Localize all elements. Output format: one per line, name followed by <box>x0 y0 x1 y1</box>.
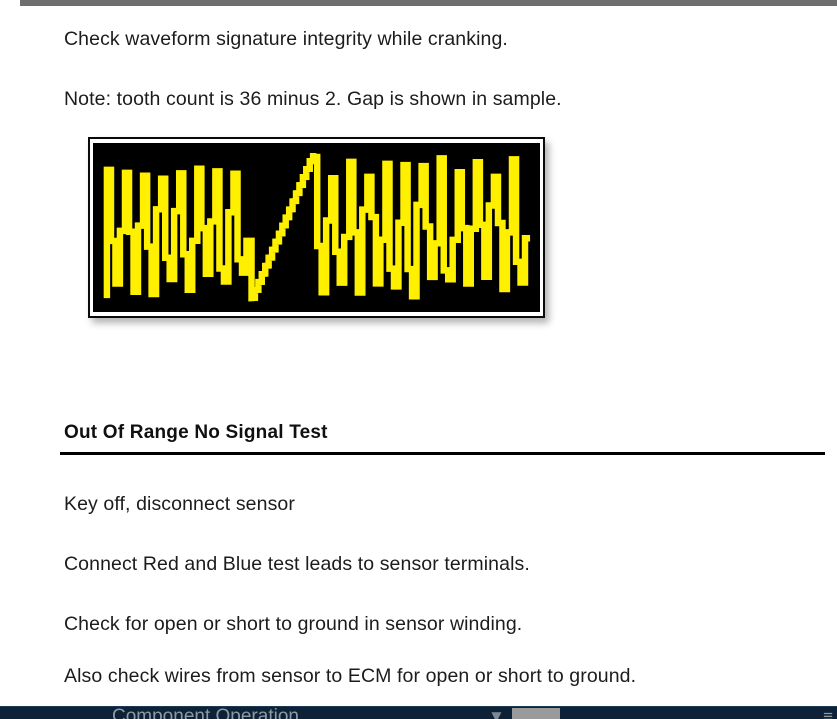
bottom-tab-bar[interactable]: Component Operation ▼ ≡ <box>0 706 837 719</box>
window-top-strip <box>0 0 837 7</box>
step-key-off: Key off, disconnect sensor <box>64 492 295 516</box>
section-heading-out-of-range: Out Of Range No Signal Test <box>64 422 328 444</box>
top-gray-bar <box>20 0 837 6</box>
waveform-figure[interactable] <box>88 137 545 318</box>
section-divider <box>60 452 825 455</box>
oscilloscope-screen <box>93 143 540 312</box>
chevron-down-icon[interactable]: ▼ <box>488 706 505 719</box>
tab-highlight-chip[interactable] <box>512 708 560 719</box>
step-check-wires-ecm: Also check wires from sensor to ECM for … <box>64 664 636 688</box>
crank-waveform-trace <box>93 143 540 312</box>
paragraph-check-waveform: Check waveform signature integrity while… <box>64 27 508 51</box>
tab-component-operation[interactable]: Component Operation <box>112 706 299 719</box>
step-connect-leads: Connect Red and Blue test leads to senso… <box>64 552 530 576</box>
document-body: Check waveform signature integrity while… <box>0 7 837 700</box>
step-check-open-short: Check for open or short to ground in sen… <box>64 612 522 636</box>
paragraph-tooth-count-note: Note: tooth count is 36 minus 2. Gap is … <box>64 87 562 111</box>
menu-icon[interactable]: ≡ <box>823 706 833 719</box>
